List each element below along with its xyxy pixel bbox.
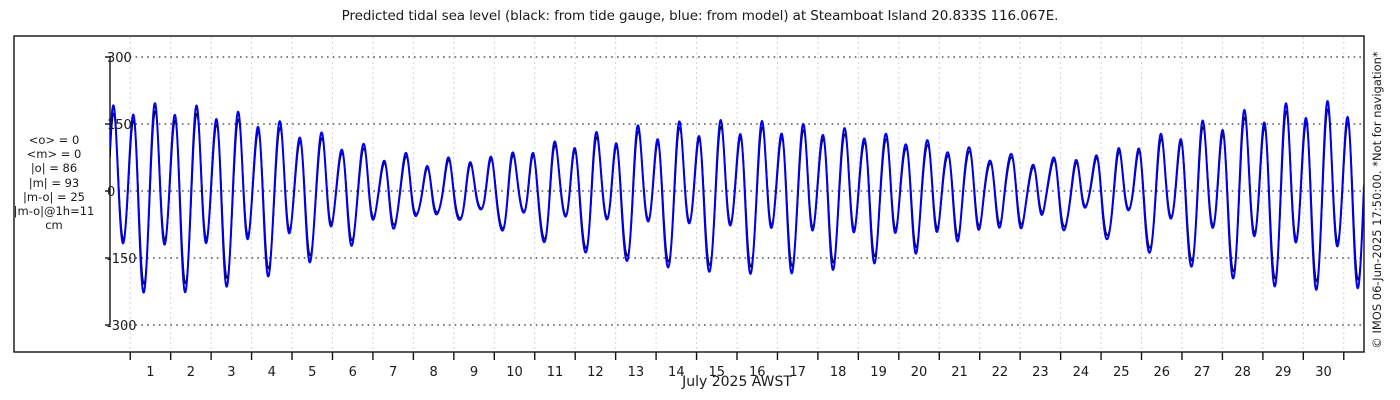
axes-frame bbox=[14, 36, 1364, 352]
stat-mean-model: <m> = 0 bbox=[2, 147, 106, 161]
axis-ticks bbox=[105, 57, 1344, 360]
stat-units: cm bbox=[2, 218, 106, 232]
y-tick-label: -300 bbox=[107, 319, 137, 334]
tidal-chart-figure: Predicted tidal sea level (black: from t… bbox=[0, 0, 1400, 400]
y-tick-label: 150 bbox=[107, 118, 132, 133]
y-tick-label: 300 bbox=[107, 51, 132, 66]
statistics-block: <o> = 0 <m> = 0 |o| = 86 |m| = 93 |m-o| … bbox=[2, 133, 106, 232]
y-tick-label: -150 bbox=[107, 252, 137, 267]
stat-absmean-model: |m| = 93 bbox=[2, 176, 106, 190]
page-title: Predicted tidal sea level (black: from t… bbox=[0, 8, 1400, 24]
vertical-gridlines bbox=[130, 37, 1344, 351]
x-axis-title: July 2025 AWST bbox=[110, 374, 1364, 390]
stat-abs-difference: |m-o| = 25 bbox=[2, 190, 106, 204]
stat-abs-difference-1h: |m-o|@1h=11 bbox=[2, 204, 106, 218]
y-axis-tick-labels: 3001500-150-300 bbox=[107, 51, 137, 334]
plot-canvas: 3001500-150-300 123456789101112131415161… bbox=[0, 0, 1400, 400]
stat-mean-observed: <o> = 0 bbox=[2, 133, 106, 147]
horizontal-gridlines bbox=[124, 57, 1363, 325]
copyright-notice: © IMOS 06-Jun-2025 17:50:00. *Not for na… bbox=[1370, 51, 1384, 348]
y-tick-label: 0 bbox=[107, 185, 115, 200]
stat-absmean-observed: |o| = 86 bbox=[2, 161, 106, 175]
